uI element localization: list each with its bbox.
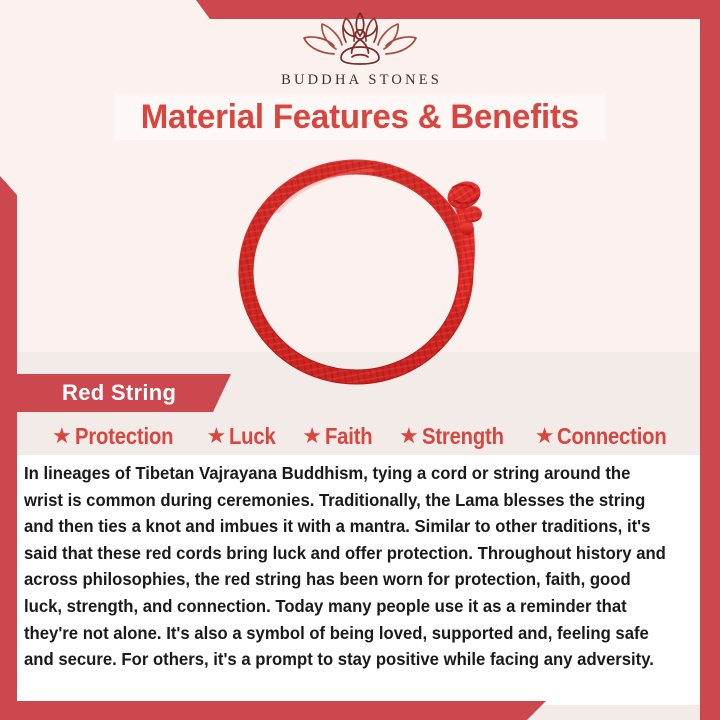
benefit-label: Faith [325,423,372,450]
star-icon: ★ [52,425,72,447]
right-red-stripe [700,0,720,720]
benefit-label: Strength [422,423,504,450]
benefit-item: ★ Luck [207,423,283,450]
star-icon: ★ [302,425,322,447]
brand-name: BUDDHA STONES [0,72,720,89]
benefit-item: ★ Protection [52,423,186,450]
star-icon: ★ [207,425,227,447]
benefit-label: Connection [557,423,667,450]
left-red-stripe [0,176,17,720]
benefit-item: ★ Connection [535,423,682,450]
benefit-item: ★ Faith [302,423,379,450]
benefit-item: ★ Strength [399,423,515,450]
brand-logo: BUDDHA STONES [0,12,720,89]
product-image [228,152,508,392]
page-title: Material Features & Benefits [141,98,579,137]
bottom-red-stripe [0,701,560,720]
product-info-poster: BUDDHA STONES Material Features & Benefi… [0,0,720,720]
benefit-label: Luck [229,423,276,450]
benefits-row: ★ Protection ★ Luck ★ Faith ★ Strength ★… [52,420,682,452]
benefit-label: Protection [75,423,173,450]
product-name-ribbon: Red String [17,374,231,412]
product-name-label: Red String [62,380,176,406]
red-braided-string-bracelet [228,152,508,392]
headline-band: Material Features & Benefits [114,94,606,140]
lotus-meditation-figure-icon [301,12,419,70]
star-icon: ★ [399,425,419,447]
description-paragraph: In lineages of Tibetan Vajrayana Buddhis… [24,460,669,673]
star-icon: ★ [535,425,555,447]
